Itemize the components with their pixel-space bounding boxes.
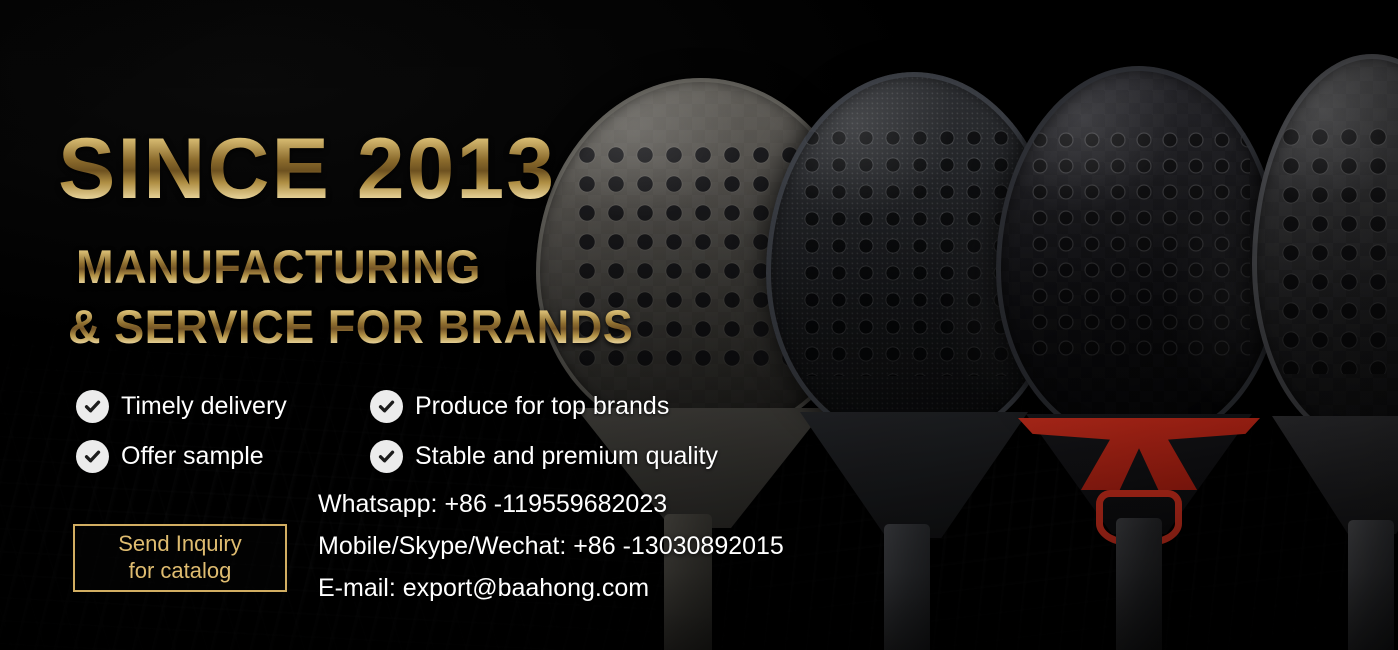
contact-whatsapp[interactable]: Whatsapp: +86 -119559682023 <box>318 483 784 525</box>
check-circle-icon <box>76 440 109 473</box>
feature-item-offer-sample: Offer sample <box>76 440 264 473</box>
feature-label: Produce for top brands <box>415 392 669 421</box>
check-circle-icon <box>76 390 109 423</box>
feature-item-produce-for-top-brands: Produce for top brands <box>370 390 669 423</box>
cta-line-1: Send Inquiry <box>118 531 242 558</box>
check-circle-icon <box>370 390 403 423</box>
contact-block: Whatsapp: +86 -119559682023 Mobile/Skype… <box>318 483 784 609</box>
send-inquiry-button[interactable]: Send Inquiry for catalog <box>73 524 287 592</box>
feature-label: Offer sample <box>121 442 264 471</box>
contact-mobile-skype-wechat[interactable]: Mobile/Skype/Wechat: +86 -13030892015 <box>318 525 784 567</box>
cta-line-2: for catalog <box>129 558 232 585</box>
headline-since: SINCE 2013 <box>58 126 556 212</box>
headline-service-for-brands: & SERVICE FOR BRANDS <box>68 303 633 350</box>
feature-item-stable-and-premium-quality: Stable and premium quality <box>370 440 718 473</box>
headline-manufacturing: MANUFACTURING <box>76 243 481 290</box>
banner-content: SINCE 2013 MANUFACTURING & SERVICE FOR B… <box>0 0 1398 650</box>
feature-label: Timely delivery <box>121 392 287 421</box>
contact-email[interactable]: E-mail: export@baahong.com <box>318 567 784 609</box>
check-circle-icon <box>370 440 403 473</box>
feature-item-timely-delivery: Timely delivery <box>76 390 287 423</box>
promo-banner: SINCE 2013 MANUFACTURING & SERVICE FOR B… <box>0 0 1398 650</box>
feature-label: Stable and premium quality <box>415 442 718 471</box>
